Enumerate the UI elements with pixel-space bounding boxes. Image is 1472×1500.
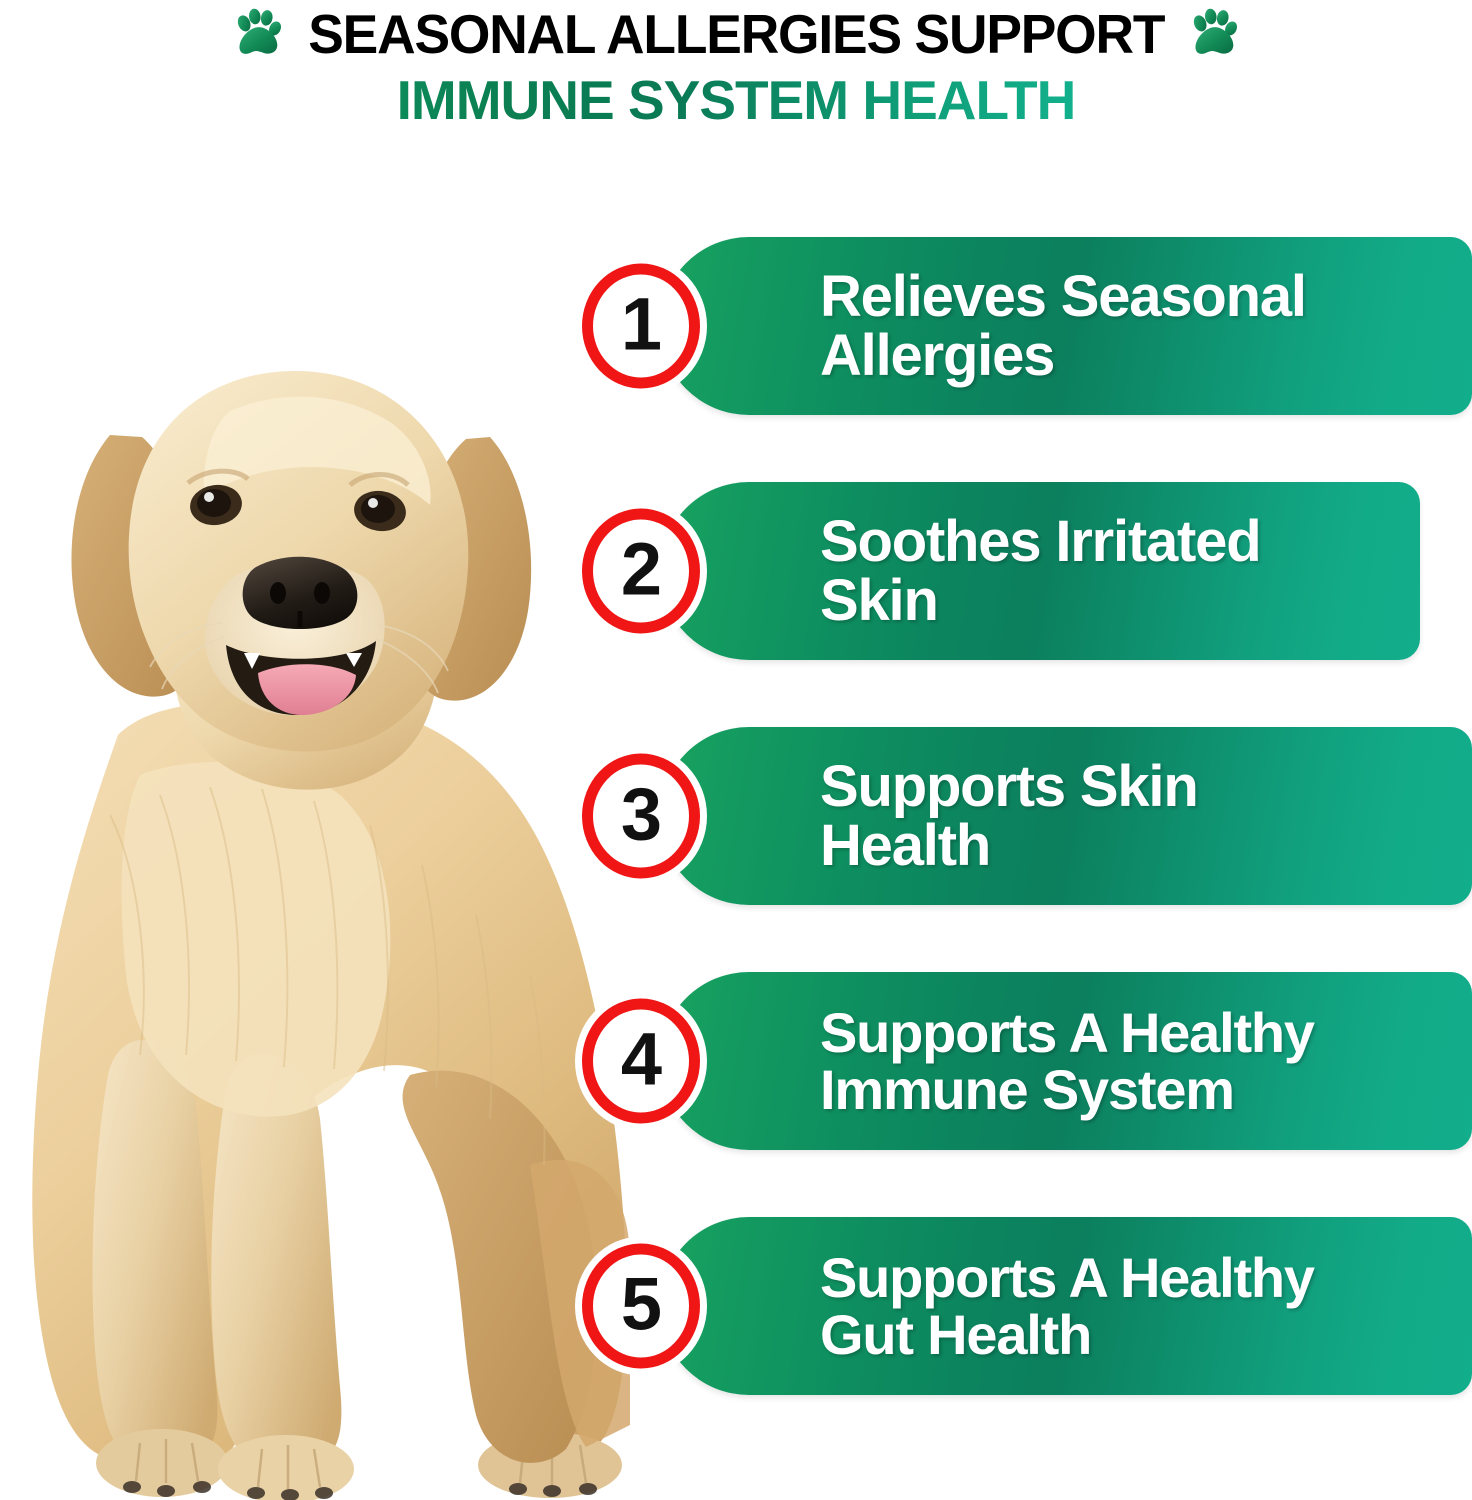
benefit-number: 3 [621, 778, 661, 852]
benefits-list: 1 Relieves Seasonal Allergies 2 Soothes … [0, 0, 1472, 1500]
benefit-item-5[interactable]: 5 Supports A Healthy Gut Health [660, 1217, 1472, 1395]
benefit-number-badge: 4 [582, 999, 700, 1124]
benefit-label: Supports A Healthy Immune System [820, 1004, 1328, 1118]
benefit-number-badge: 5 [582, 1244, 700, 1369]
benefit-item-1[interactable]: 1 Relieves Seasonal Allergies [660, 237, 1472, 415]
benefit-number: 4 [621, 1023, 661, 1097]
benefit-number-badge: 1 [582, 264, 700, 389]
benefit-number: 5 [621, 1268, 661, 1342]
benefit-item-3[interactable]: 3 Supports Skin Health [660, 727, 1472, 905]
benefit-label: Supports Skin Health [820, 757, 1212, 875]
benefit-number: 2 [621, 533, 661, 607]
benefit-label: Supports A Healthy Gut Health [820, 1249, 1328, 1363]
benefit-number-badge: 2 [582, 509, 700, 634]
benefit-number-badge: 3 [582, 754, 700, 879]
benefit-item-4[interactable]: 4 Supports A Healthy Immune System [660, 972, 1472, 1150]
benefit-number: 1 [621, 288, 661, 362]
benefit-item-2[interactable]: 2 Soothes Irritated Skin [660, 482, 1420, 660]
product-infographic: SEASONAL ALLERGIES SUPPORT IMMUNE SYSTEM… [0, 0, 1472, 1500]
benefit-label: Relieves Seasonal Allergies [820, 267, 1320, 385]
benefit-label: Soothes Irritated Skin [820, 512, 1274, 630]
